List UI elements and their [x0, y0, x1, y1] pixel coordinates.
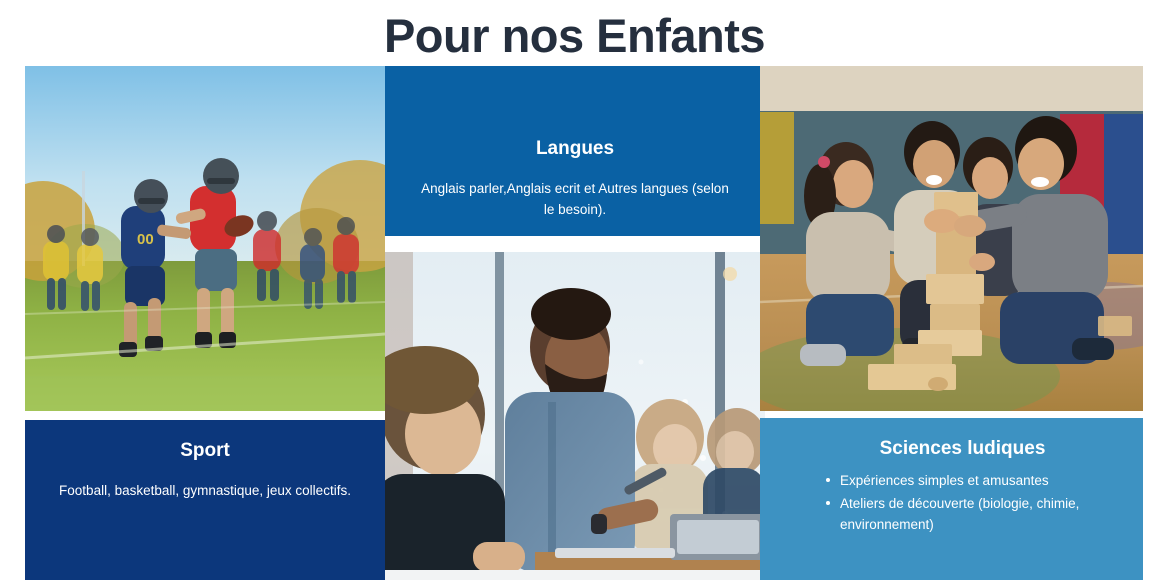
list-item: Expériences simples et amusantes — [826, 470, 1117, 491]
column-right: Sciences ludiques Expériences simples et… — [760, 66, 1143, 580]
panel-sport: Sport Football, basketball, gymnastique,… — [25, 420, 385, 580]
column-center: Langues Anglais parler,Anglais ecrit et … — [385, 66, 765, 580]
panel-langues-heading: Langues — [407, 136, 743, 162]
column-left: 00 Sport Football, basketball, gymnastiq… — [25, 66, 385, 580]
panel-sciences-bullets: Expériences simples et amusantes Atelier… — [808, 470, 1117, 535]
content-grid: 00 Sport Football, basketball, gymnastiq… — [25, 66, 1143, 580]
classroom-study-photo — [385, 252, 765, 580]
page-title: Pour nos Enfants — [0, 8, 1149, 64]
kids-playing-football-photo: 00 — [25, 66, 385, 411]
panel-langues: Langues Anglais parler,Anglais ecrit et … — [385, 66, 765, 236]
slide-root: Pour nos Enfants — [0, 0, 1149, 580]
panel-langues-body: Anglais parler,Anglais ecrit et Autres l… — [407, 178, 743, 220]
panel-sciences-heading: Sciences ludiques — [808, 436, 1117, 462]
panel-sport-body: Football, basketball, gymnastique, jeux … — [47, 480, 363, 501]
kids-building-blocks-photo — [760, 66, 1143, 411]
panel-sport-heading: Sport — [47, 438, 363, 464]
svg-text:00: 00 — [137, 231, 154, 248]
list-item: Ateliers de découverte (biologie, chimie… — [826, 493, 1117, 535]
panel-sciences: Sciences ludiques Expériences simples et… — [760, 418, 1143, 580]
